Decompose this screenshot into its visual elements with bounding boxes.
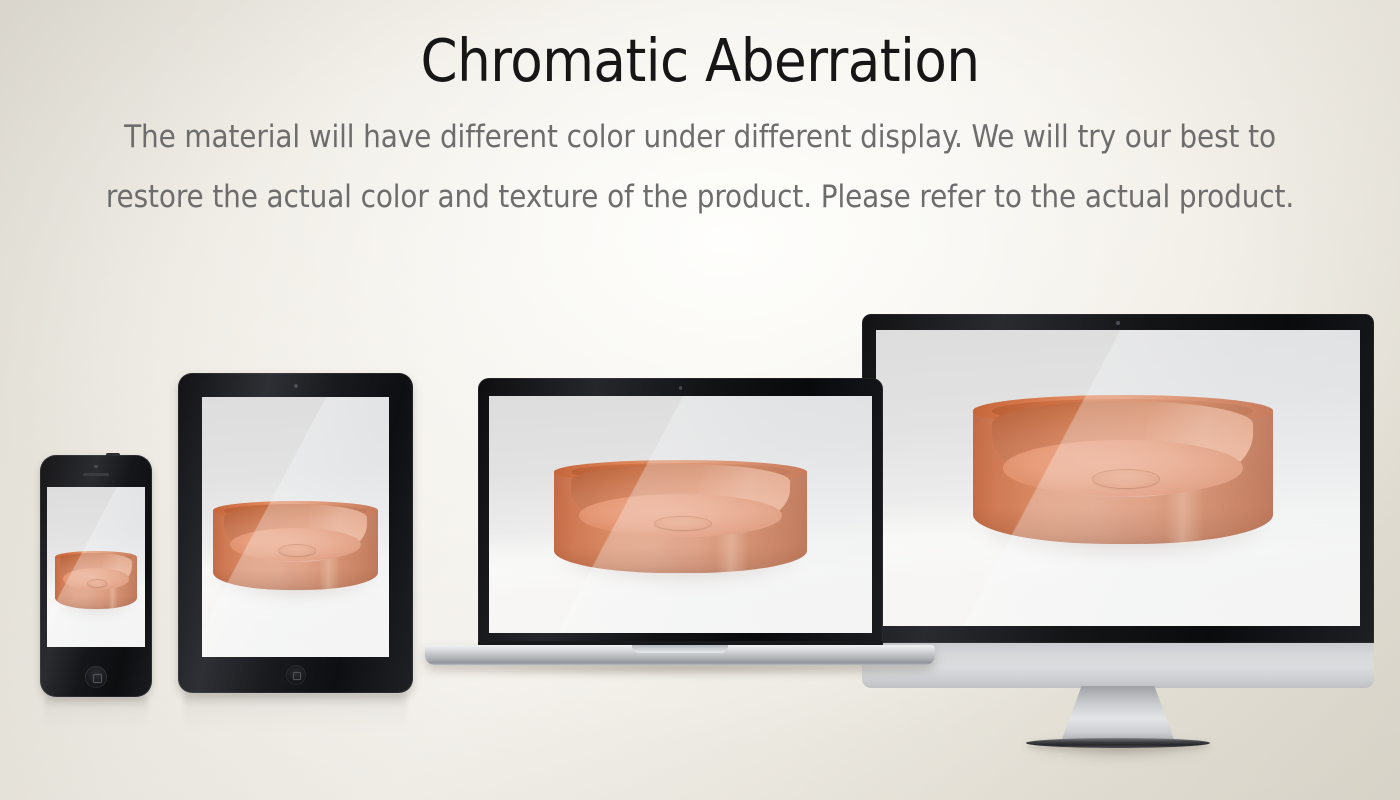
basin-inner-floor	[230, 528, 362, 562]
basin-product-image	[213, 501, 378, 600]
basin-drain-icon	[1093, 470, 1159, 488]
laptop-lid	[478, 378, 883, 644]
camera-icon	[1116, 321, 1120, 325]
camera-icon	[679, 386, 683, 390]
page-subtitle: The material will have different color u…	[73, 91, 1328, 228]
product-photo	[202, 397, 389, 657]
basin-drain-icon	[88, 580, 106, 587]
basin-product-image	[554, 460, 807, 586]
tablet-screen	[202, 397, 389, 657]
laptop-shadow	[439, 665, 921, 676]
power-button-icon	[106, 453, 120, 456]
device-mockup-tablet	[178, 373, 413, 693]
laptop-screen	[489, 396, 872, 633]
camera-icon	[94, 465, 97, 468]
banner-text-block: Chromatic Aberration The material will h…	[0, 0, 1400, 228]
home-button-icon[interactable]	[286, 665, 306, 685]
monitor-stand-reflection	[1034, 748, 1202, 764]
monitor-bezel	[862, 314, 1374, 643]
product-photo	[47, 487, 145, 647]
speaker-icon	[83, 473, 109, 476]
home-button-icon[interactable]	[85, 666, 107, 688]
monitor-screen	[876, 330, 1360, 626]
product-banner: Chromatic Aberration The material will h…	[0, 0, 1400, 800]
monitor-stand-neck	[1061, 686, 1175, 742]
product-photo	[489, 396, 872, 633]
monitor-stand-foot	[1026, 738, 1210, 748]
product-photo	[876, 330, 1360, 626]
device-mockup-laptop	[425, 375, 935, 680]
device-mockup-monitor	[862, 314, 1374, 754]
page-title: Chromatic Aberration	[0, 0, 1400, 91]
basin-product-image	[973, 395, 1273, 561]
tablet-reflection	[184, 693, 407, 733]
phone-reflection	[44, 697, 148, 731]
laptop-base-notch	[632, 645, 728, 653]
camera-icon	[294, 384, 298, 388]
basin-inner-floor	[579, 494, 781, 537]
monitor-chin	[862, 643, 1374, 688]
basin-drain-icon	[655, 517, 711, 531]
basin-product-image	[55, 551, 137, 615]
device-mockup-phone	[40, 455, 152, 697]
phone-screen	[47, 487, 145, 647]
